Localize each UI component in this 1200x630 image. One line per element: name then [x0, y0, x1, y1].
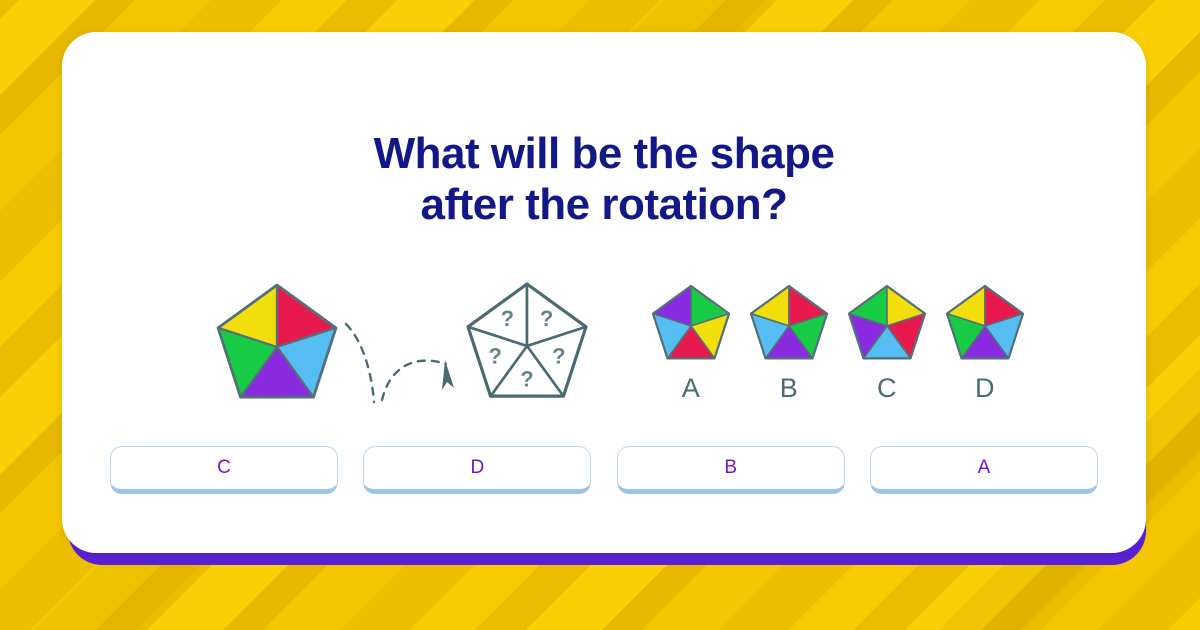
answer-button-row: C D B A — [110, 446, 1098, 508]
option-label-c: C — [844, 373, 930, 404]
title-line-2: after the rotation? — [62, 179, 1146, 230]
page-title: What will be the shape after the rotatio… — [62, 128, 1146, 230]
question-mark: ? — [552, 343, 565, 368]
figure-row: ????? A B C D — [62, 232, 1146, 432]
option-pentagon-a[interactable]: A — [648, 284, 734, 404]
option-label-a: A — [648, 373, 734, 404]
arrow-dash-ascending — [382, 361, 446, 400]
answer-button-2[interactable]: D — [363, 446, 591, 494]
option-label-b: B — [746, 373, 832, 404]
option-pentagon-d[interactable]: D — [942, 284, 1028, 404]
answer-button-1[interactable]: C — [110, 446, 338, 494]
answer-button-4[interactable]: A — [870, 446, 1098, 494]
question-mark: ? — [540, 306, 553, 331]
question-mark: ? — [501, 306, 514, 331]
source-pentagon — [212, 282, 342, 413]
question-mark: ? — [520, 366, 533, 391]
option-pentagon-c[interactable]: C — [844, 284, 930, 404]
question-mark: ? — [488, 343, 501, 368]
option-label-d: D — [942, 373, 1028, 404]
quiz-card: What will be the shape after the rotatio… — [62, 32, 1146, 553]
arrowhead-icon — [442, 360, 454, 390]
rotation-arrow — [342, 302, 462, 417]
answer-button-3[interactable]: B — [617, 446, 845, 494]
option-pentagon-b[interactable]: B — [746, 284, 832, 404]
question-pentagon: ????? — [462, 280, 592, 413]
title-line-1: What will be the shape — [62, 128, 1146, 179]
arrow-dash-descending — [346, 324, 374, 402]
